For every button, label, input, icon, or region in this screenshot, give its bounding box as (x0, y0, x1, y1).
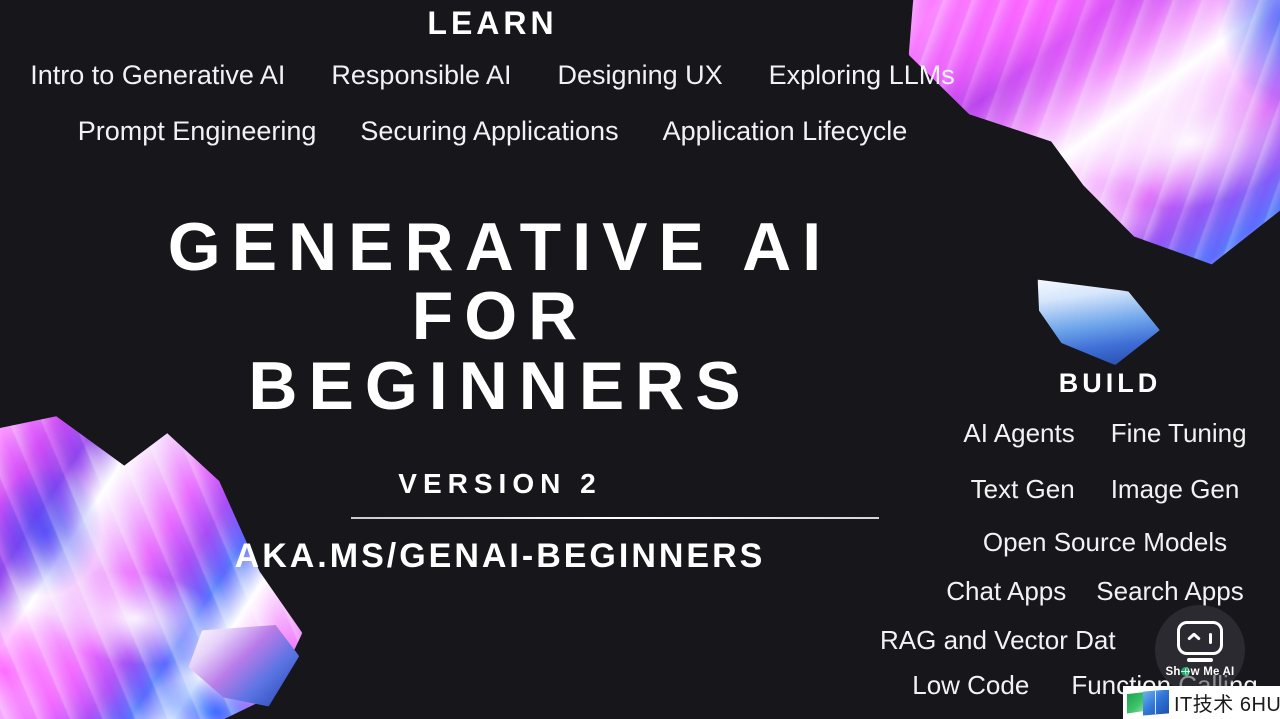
build-topic-ai-agents: AI Agents (963, 418, 1074, 449)
robot-mouth-icon (1187, 658, 1213, 662)
page-title: GENERATIVE AI FOR BEGINNERS (0, 215, 1000, 419)
it-source-label: IT技术 6HU (1174, 688, 1280, 717)
build-topic-open-source-models: Open Source Models (983, 527, 1227, 558)
robot-eye-bar-icon (1209, 633, 1212, 644)
build-topic-rag-and-vector-databases: RAG and Vector Dat (880, 625, 1116, 656)
build-topics-row-3: Open Source Models (905, 527, 1280, 558)
learn-topic-intro-to-generative-ai: Intro to Generative AI (30, 60, 285, 91)
robot-face-icon (1177, 621, 1223, 655)
show-me-ai-label: Sh w Me AI (1166, 666, 1235, 678)
build-topic-low-code: Low Code (912, 670, 1029, 701)
show-me-ai-watermark: Sh w Me AI (1155, 605, 1245, 695)
title-line-1: GENERATIVE AI (0, 215, 1000, 280)
globe-icon (1181, 667, 1190, 676)
holographic-artwork-bottom-left-tail (181, 609, 310, 719)
title-divider (351, 517, 879, 519)
poster-canvas: LEARN Intro to Generative AI Responsible… (0, 0, 1280, 719)
flag-logo-blue-panel (1143, 690, 1169, 716)
show-me-ai-label-before: Sh (1166, 666, 1181, 678)
learn-topic-designing-ux: Designing UX (558, 60, 723, 91)
version-label: VERSION 2 (0, 468, 1000, 500)
build-topic-text-gen: Text Gen (971, 474, 1075, 505)
holographic-artwork-top-right-tail (1024, 272, 1167, 372)
learn-topics-row-1: Intro to Generative AI Responsible AI De… (0, 60, 985, 91)
title-line-3: BEGINNERS (0, 354, 1000, 419)
learn-topic-securing-applications: Securing Applications (360, 116, 618, 147)
learn-topic-exploring-llms: Exploring LLMs (769, 60, 955, 91)
build-topics-row-4: Chat Apps Search Apps (895, 576, 1280, 607)
title-line-2: FOR (0, 284, 1000, 349)
build-topics-row-2: Text Gen Image Gen (905, 474, 1280, 505)
learn-topic-application-lifecycle: Application Lifecycle (663, 116, 908, 147)
build-topic-image-gen: Image Gen (1111, 474, 1240, 505)
course-url: AKA.MS/GENAI-BEGINNERS (0, 537, 1000, 576)
show-me-ai-label-after: w Me AI (1191, 666, 1235, 678)
build-topic-fine-tuning: Fine Tuning (1111, 418, 1247, 449)
learn-topics-row-2: Prompt Engineering Securing Applications… (0, 116, 985, 147)
learn-section-heading: LEARN (0, 5, 985, 42)
learn-topic-prompt-engineering: Prompt Engineering (78, 116, 317, 147)
flag-logo-icon (1127, 690, 1169, 716)
build-topics-row-1: AI Agents Fine Tuning (905, 418, 1280, 449)
learn-topic-responsible-ai: Responsible AI (331, 60, 511, 91)
it-source-watermark: IT技术 6HU (1123, 686, 1280, 719)
build-topic-chat-apps: Chat Apps (946, 576, 1066, 607)
build-topic-search-apps: Search Apps (1096, 576, 1243, 607)
robot-eye-caret-icon (1188, 634, 1201, 643)
build-section-heading: BUILD (905, 368, 1280, 399)
